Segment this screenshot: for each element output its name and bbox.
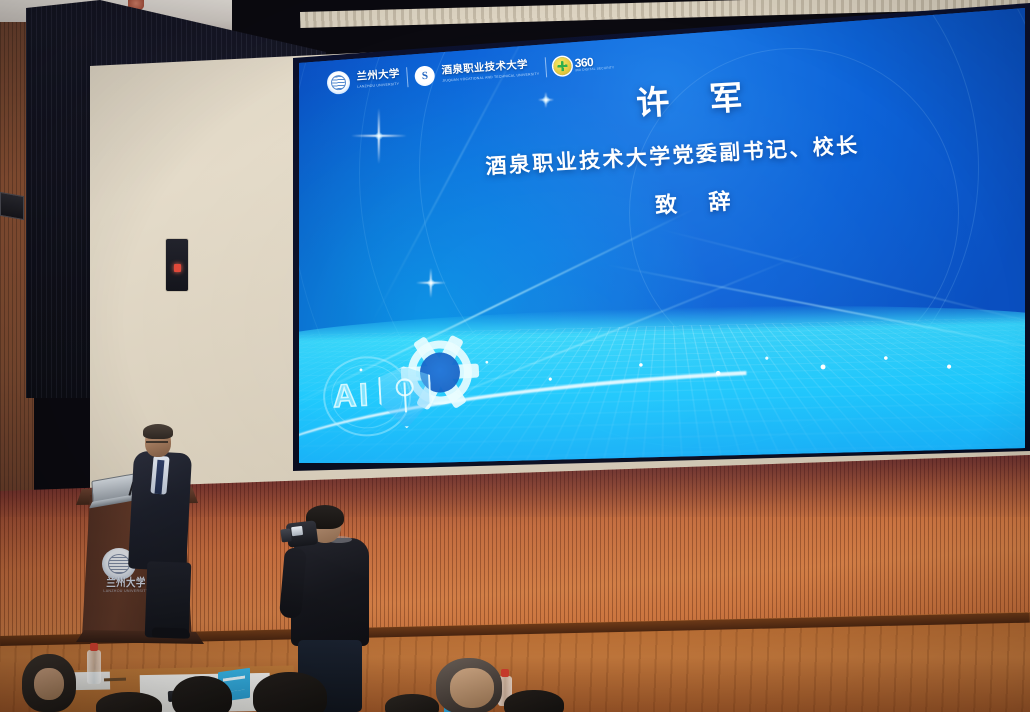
- power-led-indicator: [174, 264, 181, 272]
- speaker-hair: [143, 424, 173, 439]
- stage-curtain-side: [26, 28, 94, 398]
- qihoo-360-logo: 360 360 DIGITAL SECURITY: [553, 53, 614, 75]
- conference-photo-scene: 兰州大学 LANZHOU UNIVERSITY 酒泉职业技术大学 JIUQUAN…: [0, 0, 1030, 712]
- logo-divider: [406, 67, 408, 87]
- audience-head: [385, 694, 439, 712]
- audience-head: [253, 672, 327, 712]
- audience-head: [172, 676, 232, 712]
- audience-head: [96, 692, 162, 712]
- ai-security-emblem: AI: [314, 333, 509, 453]
- water-bottle: [87, 650, 101, 684]
- logo-divider: [545, 57, 547, 77]
- audience-head: [504, 690, 564, 712]
- wall-mounted-speaker: [165, 238, 189, 292]
- ai-text-label: AI: [332, 378, 372, 412]
- podium-logo-label-cn: 兰州大学: [101, 578, 151, 589]
- speaker-shoes: [152, 627, 190, 638]
- agenda-item: 致 辞: [393, 172, 1006, 234]
- video-camera-icon: [286, 520, 319, 547]
- jiuquan-university-seal-icon: [414, 65, 435, 86]
- 360-shield-icon: [553, 56, 572, 75]
- audience-face: [450, 668, 494, 708]
- logo-label-360-en: 360 DIGITAL SECURITY: [575, 67, 614, 73]
- wall-display-panel: [0, 192, 24, 220]
- logo-label-en: LANZHOU UNIVERSITY: [357, 82, 400, 88]
- lanzhou-university-seal-icon: [326, 70, 351, 95]
- audience-face: [34, 668, 64, 700]
- led-screen: 兰州大学 LANZHOU UNIVERSITY 酒泉职业技术大学 JIUQUAN…: [299, 8, 1025, 463]
- speaker-glasses: [146, 441, 168, 447]
